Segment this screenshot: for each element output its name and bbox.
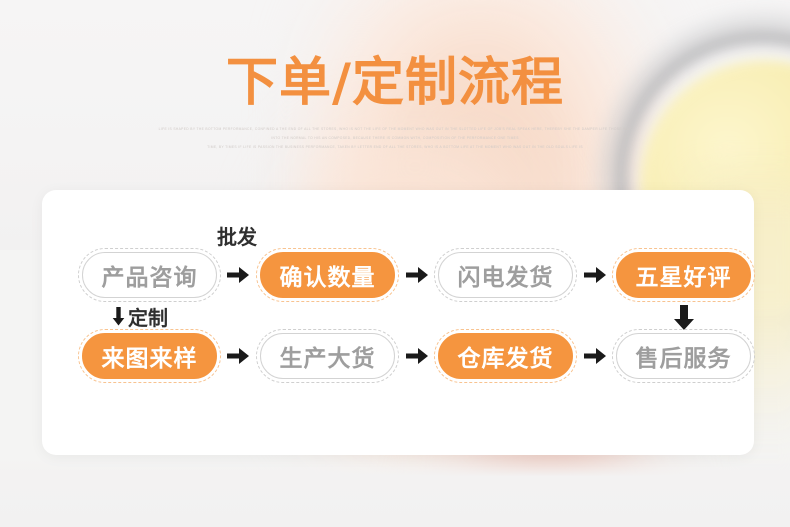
flow-node-label: 生产大货: [280, 339, 376, 373]
page-root: 下单/定制流程 LIFE IS SHAPED BY THE BOTTOM PER…: [0, 0, 790, 527]
flow-node-label: 产品咨询: [102, 258, 198, 292]
decorative-microtext: LIFE IS SHAPED BY THE BOTTOM PERFORMANCE…: [0, 125, 790, 152]
decorative-microtext-line: LIFE IS SHAPED BY THE BOTTOM PERFORMANCE…: [0, 124, 790, 133]
flow-node-label: 仓库发货: [458, 339, 554, 373]
decorative-microtext-line: INTO THE NORMAL TO HIS AN COMPOSED, BECA…: [0, 133, 790, 142]
page-title: 下单/定制流程: [0, 56, 790, 111]
flow-card: 批发 产品咨询 确认数量 闪电发货 五星好评: [42, 190, 754, 455]
flow-node-sample-from-drawing[interactable]: 来图来样: [82, 333, 217, 379]
flow-node-fast-shipping[interactable]: 闪电发货: [438, 252, 573, 298]
flow-node-label: 闪电发货: [458, 258, 554, 292]
flow-node-bulk-production[interactable]: 生产大货: [260, 333, 395, 379]
arrow-right-icon: [225, 343, 251, 369]
arrow-right-icon: [404, 343, 430, 369]
background-bottom-field: [0, 455, 790, 527]
branch-label-wholesale: 批发: [217, 221, 257, 250]
flow-node-after-sales-service[interactable]: 售后服务: [616, 333, 751, 379]
branch-label-customization: 定制: [112, 302, 168, 331]
flow-node-label: 来图来样: [102, 339, 198, 373]
flow-node-label: 五星好评: [636, 258, 732, 292]
flow-node-five-star-review[interactable]: 五星好评: [616, 252, 751, 298]
arrow-right-icon: [582, 262, 608, 288]
arrow-down-icon: [112, 307, 125, 326]
decorative-microtext-line: TIME, BY TIMES IF LIFE IS PASSION THE BU…: [0, 142, 790, 151]
flow-node-product-inquiry[interactable]: 产品咨询: [82, 252, 217, 298]
arrow-right-icon: [582, 343, 608, 369]
arrow-down-icon: [673, 305, 695, 331]
arrow-right-icon: [225, 262, 251, 288]
flow-chart: 批发 产品咨询 确认数量 闪电发货 五星好评: [42, 190, 754, 455]
flow-node-warehouse-shipping[interactable]: 仓库发货: [438, 333, 573, 379]
header: 下单/定制流程 LIFE IS SHAPED BY THE BOTTOM PER…: [0, 56, 790, 152]
branch-label-text: 定制: [128, 302, 168, 331]
flow-node-label: 确认数量: [280, 258, 376, 292]
flow-node-label: 售后服务: [636, 339, 732, 373]
arrow-right-icon: [404, 262, 430, 288]
flow-node-confirm-quantity[interactable]: 确认数量: [260, 252, 395, 298]
